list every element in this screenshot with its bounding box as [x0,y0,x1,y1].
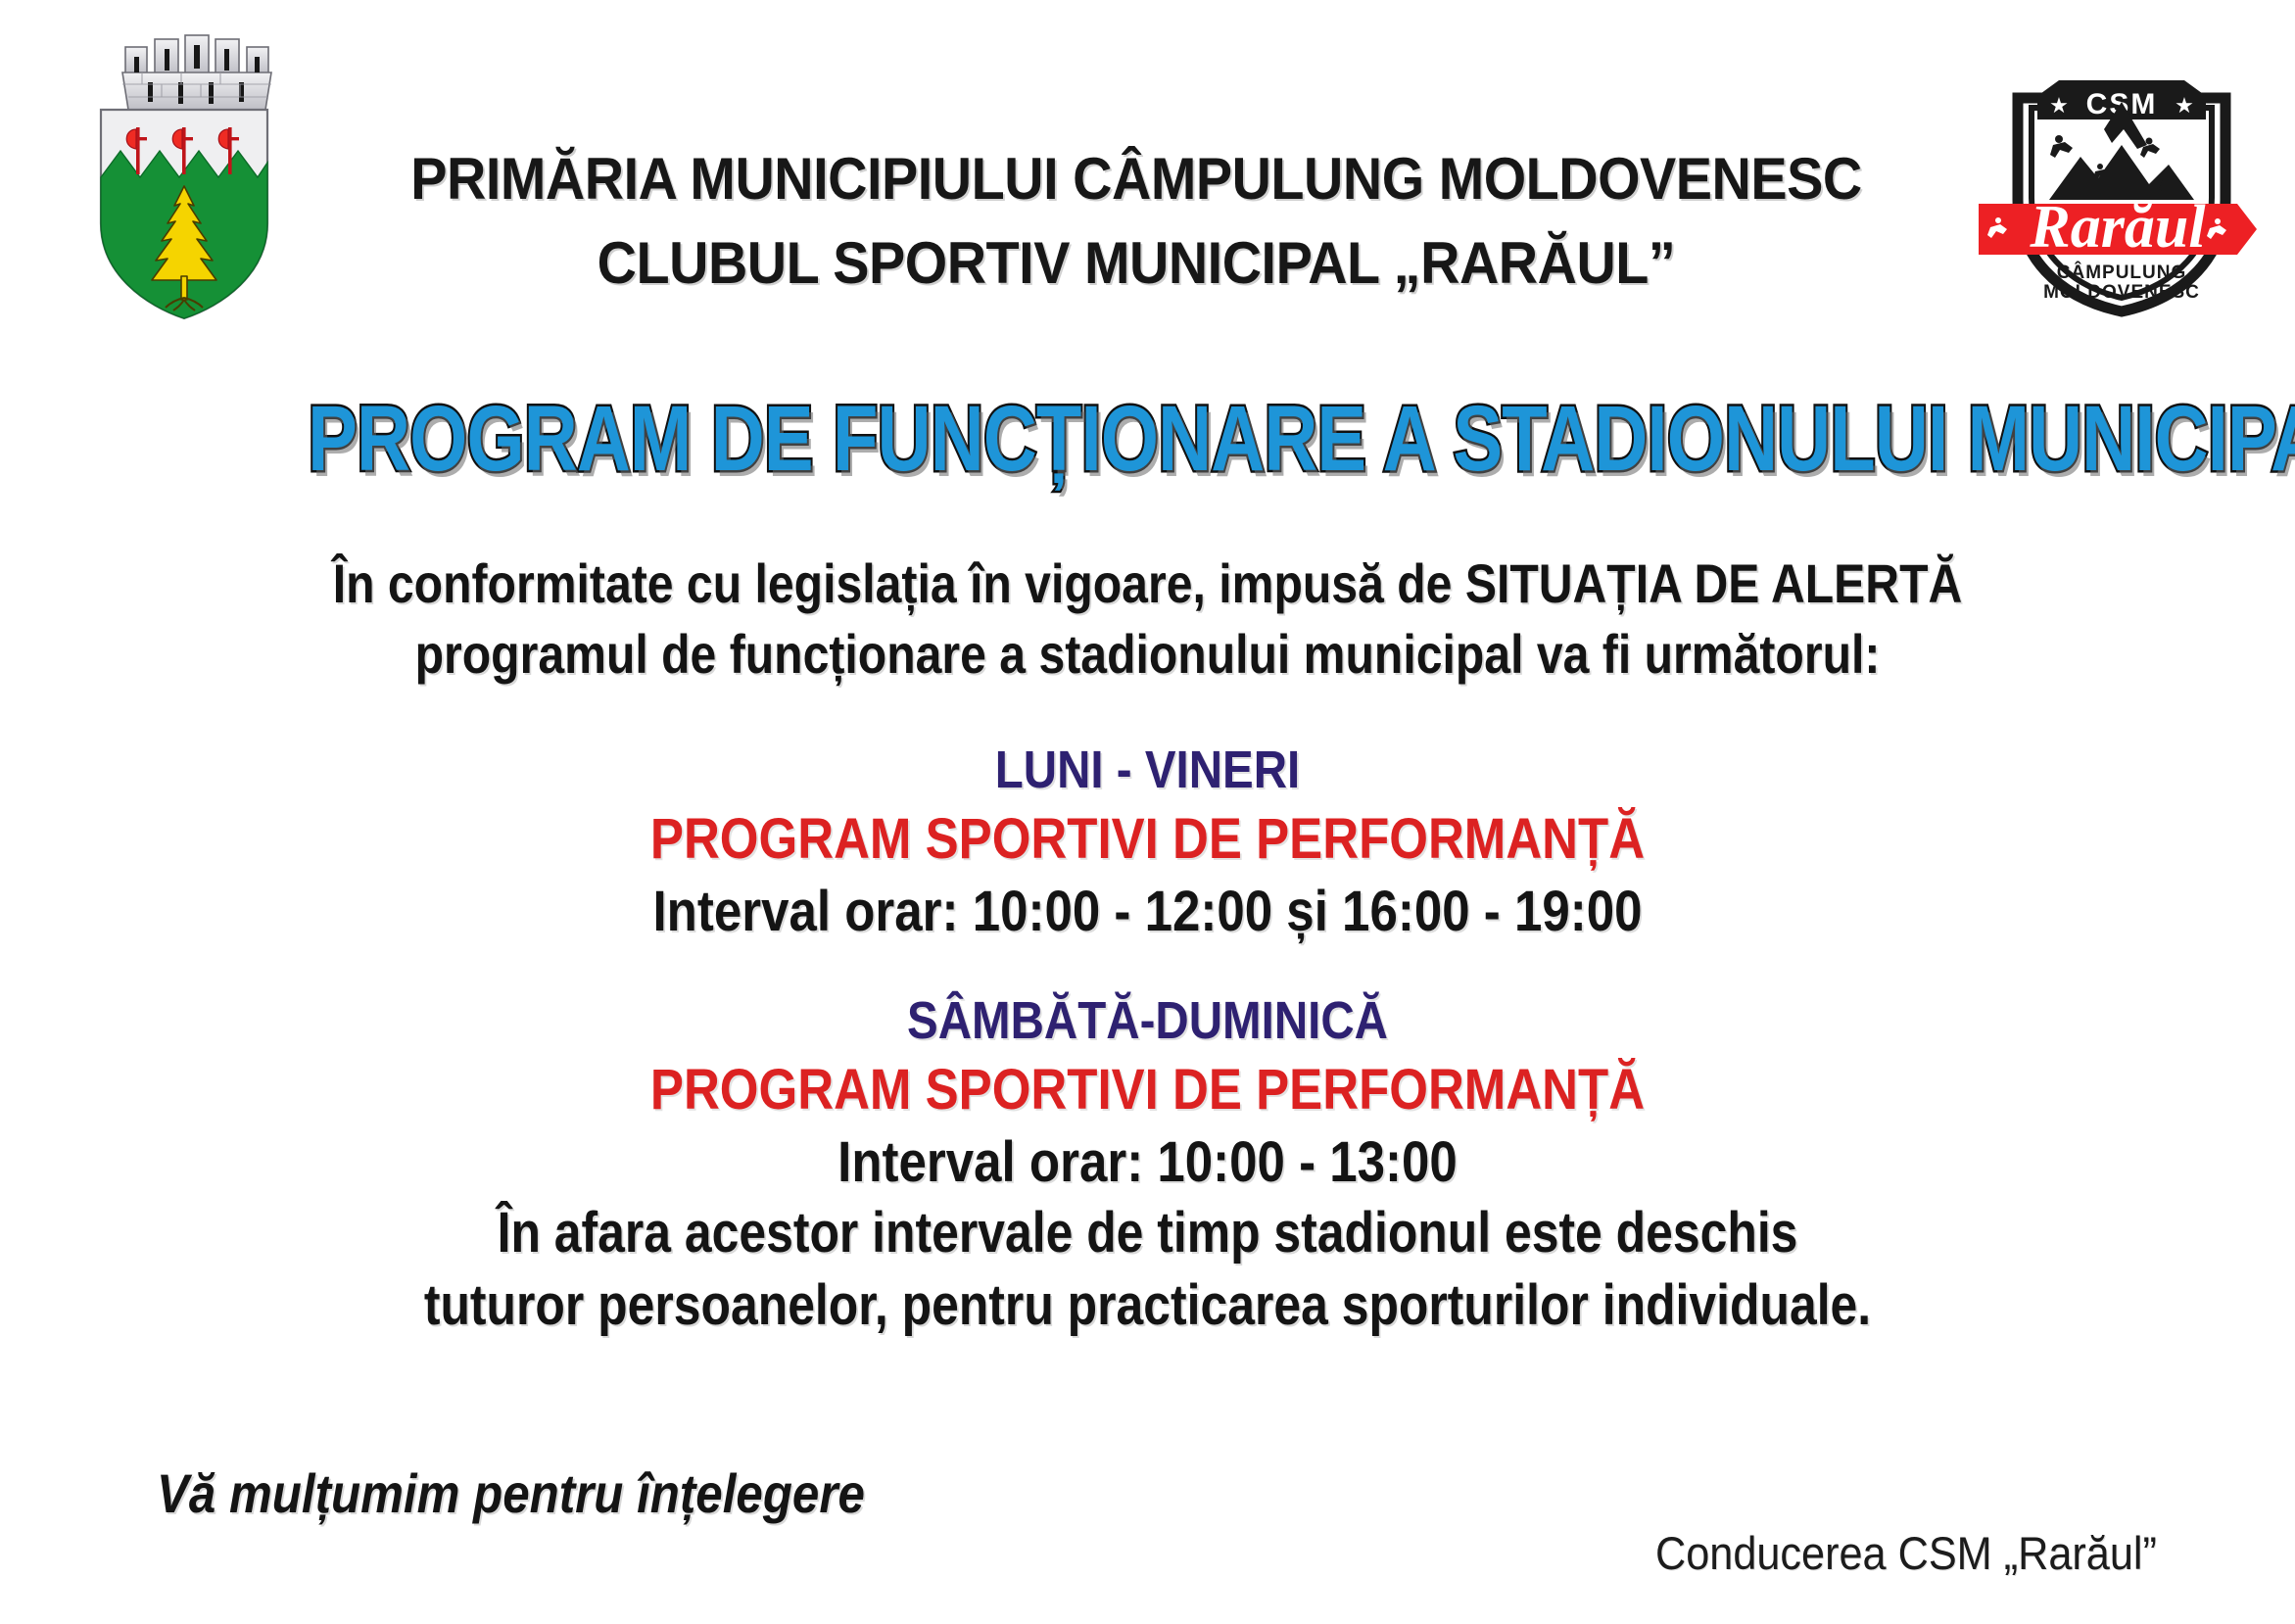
schedule-program-weekdays: PROGRAM SPORTIVI DE PERFORMANȚĂ [138,803,2158,876]
svg-text:★: ★ [2049,93,2069,118]
header-titles: PRIMĂRIA MUNICIPIULUI CÂMPULUNG MOLDOVEN… [294,137,1979,306]
csm-raraul-logo-icon: CSM ★ ★ [1975,35,2269,319]
coat-of-arms-icon [83,14,284,325]
schedule-days-weekdays: LUNI - VINERI [138,737,2158,803]
outro-line-2: tuturor persoanelor, pentru practicarea … [161,1269,2134,1342]
schedule-block-weekdays: LUNI - VINERI PROGRAM SPORTIVI DE PERFOR… [0,737,2295,948]
outro-paragraph: În afara acestor intervale de timp stadi… [0,1197,2295,1342]
svg-text:CÂMPULUNG: CÂMPULUNG [2057,262,2187,283]
intro-line-2: programul de funcționare a stadionului m… [161,619,2134,690]
svg-text:Rarăul: Rarăul [2029,194,2206,261]
schedule-interval-weekend: Interval orar: 10:00 - 13:00 [138,1126,2158,1199]
header-line-club: CLUBUL SPORTIV MUNICIPAL „RARĂUL” [353,221,1920,306]
outro-line-1: În afara acestor intervale de timp stadi… [161,1197,2134,1269]
intro-line-1: În conformitate cu legislația în vigoare… [161,549,2134,619]
poster-sheet: CSM ★ ★ [0,0,2295,1624]
poster-title-wrap: PROGRAM DE FUNCȚIONARE A STADIONULUI MUN… [0,384,2295,502]
intro-paragraph: În conformitate cu legislația în vigoare… [0,549,2295,690]
schedule-block-weekend: SÂMBĂTĂ-DUMINICĂ PROGRAM SPORTIVI DE PER… [0,987,2295,1199]
schedule-program-weekend: PROGRAM SPORTIVI DE PERFORMANȚĂ [138,1054,2158,1126]
thanks-note: Vă mulțumim pentru înțelegere [157,1459,865,1528]
header-line-primaria: PRIMĂRIA MUNICIPIULUI CÂMPULUNG MOLDOVEN… [353,137,1920,221]
signature-line: Conducerea CSM „Rarăul” [1655,1524,2157,1583]
poster-header: CSM ★ ★ [0,0,2295,343]
schedule-interval-weekdays: Interval orar: 10:00 - 12:00 și 16:00 - … [138,876,2158,948]
svg-text:★: ★ [2175,93,2194,118]
schedule-days-weekend: SÂMBĂTĂ-DUMINICĂ [138,987,2158,1054]
svg-text:MOLDOVENESC: MOLDOVENESC [2043,282,2200,303]
poster-title: PROGRAM DE FUNCȚIONARE A STADIONULUI MUN… [308,384,2295,494]
